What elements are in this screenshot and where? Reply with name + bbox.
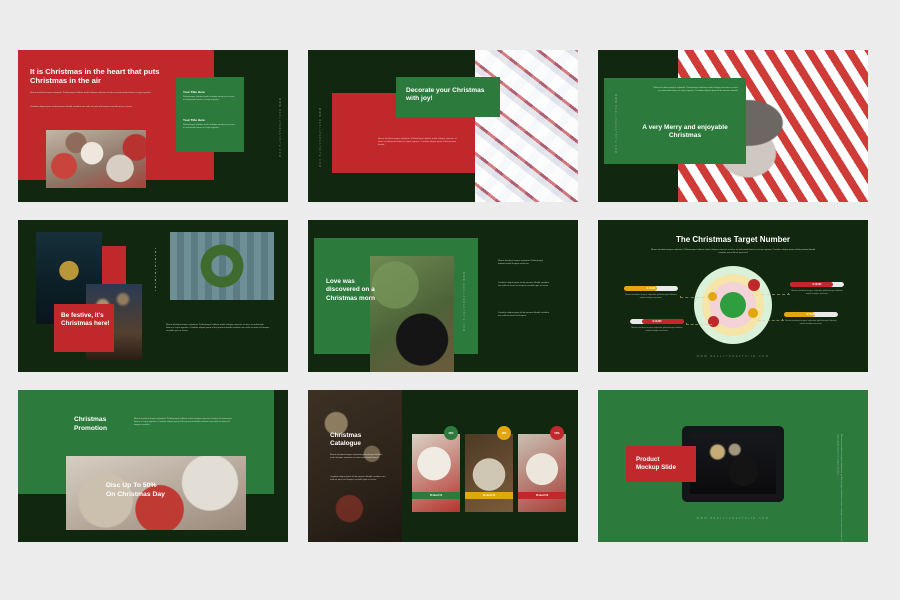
slide-5-body-1: Mauris tincidunt tempus vulputate. Pelle… <box>498 260 550 266</box>
donut-dot-yellow-right <box>748 308 758 318</box>
stat-pill-3: $ 16,000 <box>790 282 844 287</box>
leader-line-3 <box>762 294 790 295</box>
product-label-3[interactable]: Product 03 <box>518 492 566 499</box>
slide-6-footer-url: WWW.REALLYGREATSITE.COM <box>598 355 868 358</box>
gifts-photo <box>46 130 146 188</box>
stat-value-4: $ 15,000 <box>784 314 838 316</box>
slide-thumbnail-9[interactable]: Product Mockup Slide Mauris tincidunt te… <box>598 390 868 542</box>
card-2-title: Your Title Here <box>183 118 205 122</box>
slide-2-body: Mauris tincidunt tempus vulputate. Pelle… <box>378 138 458 148</box>
stat-desc-2: Mauris tincidunt tempus vulputate pellen… <box>630 327 684 333</box>
stat-pill-1: $ 17,000 <box>624 286 678 291</box>
slide-8-body-1: Mauris tincidunt tempus vulputate pellen… <box>330 454 386 460</box>
dot-rail <box>155 248 156 291</box>
tablet-screen-photo <box>690 434 776 494</box>
slide-9-footer-url: WWW.REALLYGREATSITE.COM <box>598 517 868 520</box>
leader-line-1 <box>680 297 710 298</box>
green-title-card: Mauris tincidunt tempus vulputate. Pelle… <box>604 78 746 164</box>
product-label-2[interactable]: Product 02 <box>465 492 513 499</box>
product-photo-2 <box>465 434 513 512</box>
slide-8-body-2: Curabitur aliquet quam id dui posuere bl… <box>330 476 386 482</box>
chart-subtitle: Mauris tincidunt tempus vulputate. Pelle… <box>650 249 816 255</box>
slide-4-body: Mauris tincidunt tempus vulputate. Pelle… <box>166 324 270 334</box>
slide-1-title: It is Christmas in the heart that puts C… <box>30 67 160 86</box>
slide-3-rail-url: WWW.REALLYGREATSITE.COM <box>614 94 616 154</box>
slide-3-body: Mauris tincidunt tempus vulputate. Pelle… <box>652 87 738 93</box>
card-1-title: Your Title Here <box>183 90 205 94</box>
product-photo-1 <box>412 434 460 512</box>
wreath-photo <box>170 232 274 300</box>
slide-9-title-line-2: Mockup Slide <box>636 464 676 472</box>
red-title-card: Be festive, it's Christmas here! <box>54 304 114 352</box>
donut-center <box>720 292 746 318</box>
leader-line-2 <box>686 324 712 325</box>
slide-thumbnail-1[interactable]: It is Christmas in the heart that puts C… <box>18 50 288 202</box>
stat-desc-1: Mauris tincidunt tempus vulputate pellen… <box>624 294 678 300</box>
stat-desc-3: Mauris tincidunt tempus vulputate pellen… <box>790 290 844 296</box>
product-photo-3 <box>518 434 566 512</box>
red-title-card: Product Mockup Slide <box>626 446 696 482</box>
slide-7-body: Mauris tincidunt tempus vulputate. Pelle… <box>134 418 234 428</box>
bokeh-photo <box>308 390 402 542</box>
stat-pill-4: $ 15,000 <box>784 312 838 317</box>
promo-line-2: On Christmas Day <box>106 491 214 500</box>
stat-desc-4: Mauris tincidunt tempus vulputate pellen… <box>784 320 838 326</box>
promo-banner: Disc Up To 50% On Christmas Day <box>106 482 214 500</box>
slide-5-body-3: Curabitur aliquet quam id dui posuere bl… <box>498 312 550 318</box>
green-info-card: Your Title Here Pellentesque habitant mo… <box>176 77 244 152</box>
green-title-card: Decorate your Christmas with joy! <box>396 77 500 117</box>
card-1-text: Pellentesque habitant morbi tristique se… <box>183 96 235 102</box>
slide-thumbnail-5[interactable]: Love was discovered on a Christmas morn … <box>308 220 578 372</box>
slide-1-body-2: Curabitur aliquet quam id dui posuere bl… <box>30 106 180 109</box>
slide-7-title: Christmas Promotion <box>74 416 120 433</box>
card-2-text: Pellentesque habitant morbi tristique se… <box>183 124 235 130</box>
greeting-cards-photo <box>475 50 578 202</box>
stat-value-1: $ 17,000 <box>624 288 678 290</box>
slide-thumbnail-6[interactable]: The Christmas Target Number Mauris tinci… <box>598 220 868 372</box>
slide-5-body-2: Curabitur aliquet quam id dui posuere bl… <box>498 282 550 288</box>
slide-thumbnail-2[interactable]: Mauris tincidunt tempus vulputate. Pelle… <box>308 50 578 202</box>
slide-9-title-line-1: Product <box>636 456 676 464</box>
slide-thumbnail-8[interactable]: Christmas Catalogue Mauris tincidunt tem… <box>308 390 578 542</box>
discount-badge-3: 50% <box>550 426 564 440</box>
slide-5-title: Love was discovered on a Christmas morn <box>326 278 390 303</box>
tablet-mockup <box>682 426 784 502</box>
slide-5-rail-url: WWW.REALLYGREATSITE.COM <box>462 272 464 332</box>
slide-9-side-text: Mauris tincidunt tempus vulputate pellen… <box>794 434 842 542</box>
donut-dot-red-top <box>748 279 760 291</box>
slide-8-title: Christmas Catalogue <box>330 432 392 449</box>
discount-badge-2: 40% <box>497 426 511 440</box>
slide-2-title: Decorate your Christmas with joy! <box>406 87 492 104</box>
slide-1-body-1: Mauris tincidunt tempus vulputate. Pelle… <box>30 92 180 95</box>
slide-1-rail-url: WWW.REALLYGREATSITE.COM <box>278 98 280 158</box>
stat-pill-2: $ 10,000 <box>630 319 684 324</box>
slide-thumbnail-4[interactable]: Be festive, it's Christmas here! Mauris … <box>18 220 288 372</box>
slide-3-title: A very Merry and enjoyable Christmas <box>632 124 738 141</box>
slide-4-title: Be festive, it's Christmas here! <box>61 312 113 328</box>
discount-badge-1: 30% <box>444 426 458 440</box>
stat-value-3: $ 16,000 <box>790 284 844 286</box>
slide-thumbnail-3[interactable]: Mauris tincidunt tempus vulputate. Pelle… <box>598 50 868 202</box>
mug-photo <box>370 256 454 372</box>
leader-line-4 <box>758 320 784 321</box>
slide-2-rail-url: WWW.REALLYGREATSITE.COM <box>318 108 320 168</box>
slide-grid: It is Christmas in the heart that puts C… <box>18 50 883 550</box>
promo-line-1: Disc Up To 50% <box>106 482 214 491</box>
donut-dot-red-bottom <box>708 316 719 327</box>
chart-title: The Christmas Target Number <box>598 235 868 244</box>
slide-thumbnail-7[interactable]: Christmas Promotion Mauris tincidunt tem… <box>18 390 288 542</box>
stat-value-2: $ 10,000 <box>630 321 684 323</box>
product-label-1[interactable]: Product 01 <box>412 492 460 499</box>
